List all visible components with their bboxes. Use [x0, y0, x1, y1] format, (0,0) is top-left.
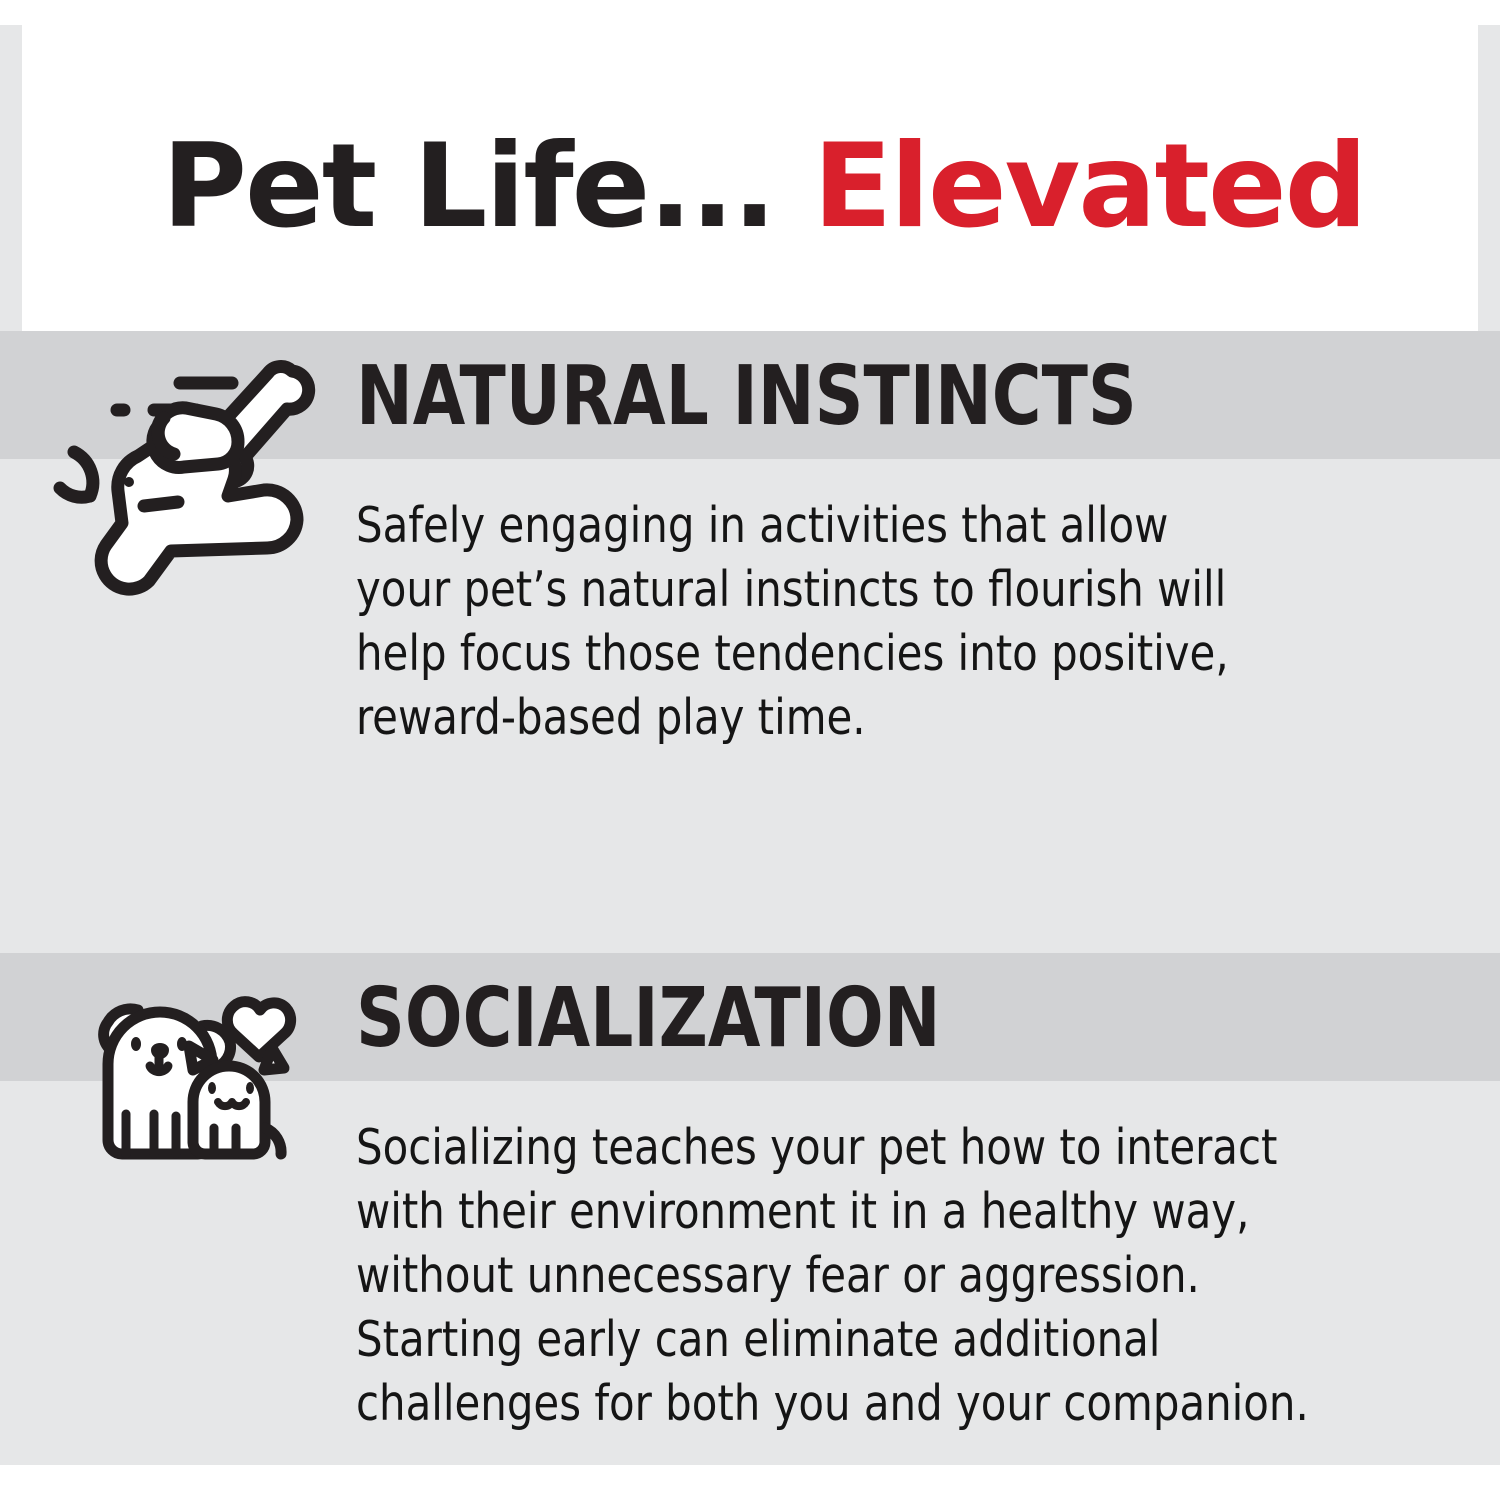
brand-title-accent: Elevated	[813, 119, 1366, 254]
body-line: help focus those tendencies into positiv…	[356, 622, 1411, 686]
section-heading-socialization: SOCIALIZATION	[356, 978, 941, 1060]
body-line: challenges for both you and your compani…	[356, 1372, 1496, 1436]
section-heading-natural-instincts: NATURAL INSTINCTS	[356, 356, 1137, 438]
body-line: your pet’s natural instincts to flourish…	[356, 558, 1411, 622]
body-line: Socializing teaches your pet how to inte…	[356, 1116, 1496, 1180]
dog-leaping-for-bone-icon	[36, 352, 326, 607]
brand-title-primary: Pet Life...	[162, 119, 775, 254]
page-title: Pet Life... Elevated	[162, 129, 1422, 245]
section-body-natural-instincts: Safely engaging in activities that allow…	[356, 494, 1411, 750]
infographic-root: Pet Life... Elevated	[0, 0, 1500, 1500]
section-body-socialization: Socializing teaches your pet how to inte…	[356, 1116, 1496, 1436]
body-line: with their environment it in a healthy w…	[356, 1180, 1496, 1244]
body-line: reward-based play time.	[356, 686, 1411, 750]
brand-header-panel: Pet Life... Elevated	[22, 25, 1478, 331]
dog-and-cat-with-heart-icon	[64, 978, 314, 1193]
body-line: without unnecessary fear or aggression.	[356, 1244, 1496, 1308]
body-line: Starting early can eliminate additional	[356, 1308, 1496, 1372]
body-line: Safely engaging in activities that allow	[356, 494, 1411, 558]
